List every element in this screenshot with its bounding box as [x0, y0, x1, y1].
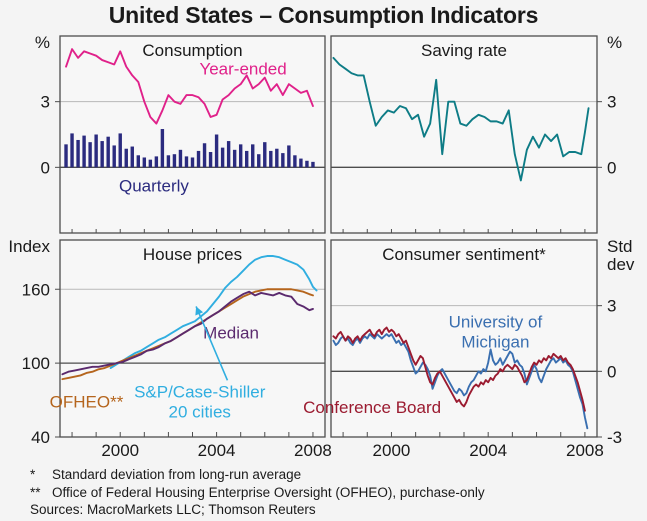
bar — [161, 129, 164, 167]
series-label: Year-ended — [199, 59, 286, 78]
bar — [179, 150, 182, 168]
bar — [106, 137, 109, 168]
y-axis-unit-label: % — [607, 33, 622, 52]
y-tick-label: 0 — [607, 158, 616, 177]
bar — [185, 156, 188, 167]
series-label: S&P/Case-Shiller — [134, 383, 266, 402]
panel-title-house-prices: House prices — [143, 245, 242, 264]
x-tick-label: 2008 — [294, 441, 332, 460]
bar — [203, 143, 206, 167]
y-tick-label: 0 — [41, 158, 50, 177]
x-tick-label: 2008 — [566, 441, 604, 460]
panel-title-consumption: Consumption — [142, 41, 242, 60]
bar — [76, 140, 79, 167]
bar — [119, 133, 122, 167]
bar — [209, 152, 212, 167]
chart-canvas: 03%ConsumptionYear-endedQuarterly03%Savi… — [0, 0, 647, 521]
bar — [88, 142, 91, 167]
bar — [257, 154, 260, 167]
bar — [299, 159, 302, 168]
bar — [311, 162, 314, 167]
bar — [82, 136, 85, 168]
y-tick-label: 100 — [22, 354, 50, 373]
series-label: University of — [449, 313, 543, 332]
bar — [245, 151, 248, 167]
bar — [100, 141, 103, 167]
bar — [233, 150, 236, 168]
bar — [149, 160, 152, 168]
y-axis-unit-label: Std — [607, 237, 633, 256]
footnote-text: Office of Federal Housing Enterprise Ove… — [52, 484, 485, 502]
footnotes-block: *Standard deviation from long-run averag… — [30, 466, 645, 519]
footnote-row: *Standard deviation from long-run averag… — [30, 466, 645, 484]
series-label: Median — [203, 324, 259, 343]
footnote-mark: ** — [30, 484, 52, 502]
bar — [305, 161, 308, 168]
sources-line: Sources: MacroMarkets LLC; Thomson Reute… — [30, 501, 645, 519]
y-tick-label: 0 — [607, 362, 616, 381]
y-tick-label: 160 — [22, 280, 50, 299]
bar — [173, 154, 176, 167]
y-tick-label: -3 — [607, 428, 622, 447]
figure-root: United States – Consumption Indicators 0… — [0, 0, 647, 521]
x-tick-label: 2004 — [469, 441, 507, 460]
x-tick-label: 2000 — [373, 441, 411, 460]
y-axis-unit-label: Index — [8, 237, 50, 256]
bar — [293, 155, 296, 167]
footnote-text: Standard deviation from long-run average — [52, 466, 301, 484]
bar — [221, 148, 224, 168]
bar — [275, 149, 278, 168]
series-label: OFHEO** — [50, 392, 124, 411]
footnote-row: **Office of Federal Housing Enterprise O… — [30, 484, 645, 502]
x-tick-label: 2004 — [198, 441, 236, 460]
bar — [251, 144, 254, 167]
bar — [167, 155, 170, 167]
bar — [227, 141, 230, 167]
y-tick-label: 40 — [31, 428, 50, 447]
y-tick-label: 3 — [41, 93, 50, 112]
bar — [215, 135, 218, 168]
panel-title-consumer-sentiment: Consumer sentiment* — [382, 245, 546, 264]
bar — [131, 147, 134, 168]
series-label: 20 cities — [169, 403, 231, 422]
bar — [70, 133, 73, 167]
y-axis-unit-label: % — [35, 33, 50, 52]
bar — [197, 151, 200, 167]
bar — [155, 156, 158, 167]
series-label: Michigan — [461, 333, 529, 352]
bar — [64, 144, 67, 167]
bar — [191, 157, 194, 167]
panel-title-saving-rate: Saving rate — [421, 41, 507, 60]
bar — [143, 157, 146, 167]
bar — [281, 153, 284, 167]
bar — [263, 142, 266, 167]
bar — [94, 135, 97, 168]
series-label: Conference Board — [303, 398, 441, 417]
footnote-mark: * — [30, 466, 52, 484]
bar — [287, 145, 290, 167]
bar — [137, 155, 140, 167]
y-tick-label: 3 — [607, 93, 616, 112]
bar — [269, 151, 272, 167]
series-label: Quarterly — [119, 176, 189, 195]
bar — [239, 144, 242, 167]
bar — [125, 149, 128, 168]
y-tick-label: 3 — [607, 297, 616, 316]
y-axis-unit-label: dev — [607, 255, 635, 274]
x-tick-label: 2000 — [101, 441, 139, 460]
bar — [112, 145, 115, 167]
